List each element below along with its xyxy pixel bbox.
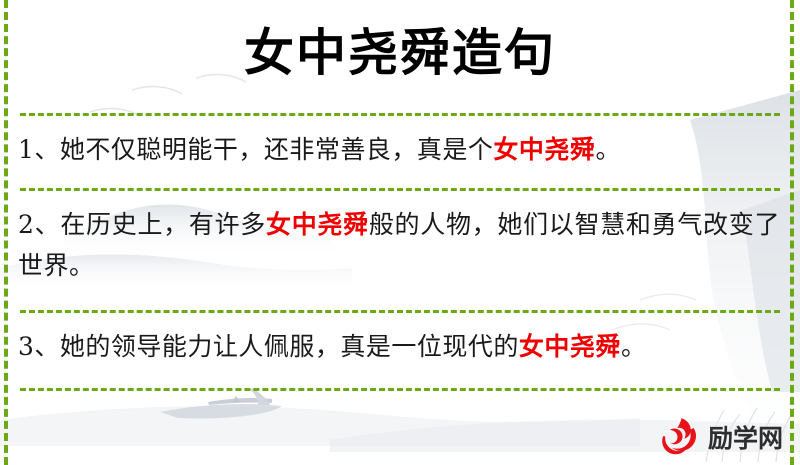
- sentence-worksheet-page: 女中尧舜造句 1、她不仅聪明能干，还非常善良，真是个女中尧舜。 2、在历史上，有…: [0, 0, 800, 465]
- sentence-3-keyword: 女中尧舜: [519, 332, 621, 361]
- separator-line-3: [20, 310, 780, 313]
- separator-line-1: [20, 113, 780, 116]
- separator-line-4: [20, 388, 780, 391]
- sentence-1-text-after: 。: [595, 135, 621, 164]
- sentence-1-index: 1、: [18, 135, 60, 164]
- site-logo-text: 励学网: [708, 419, 783, 455]
- sentence-item-2: 2、在历史上，有许多女中尧舜般的人物，她们以智慧和勇气改变了世界。: [18, 204, 780, 286]
- sentence-2-text-before: 在历史上，有许多: [60, 210, 266, 239]
- site-logo[interactable]: 励学网: [660, 414, 783, 460]
- sentence-item-1: 1、她不仅聪明能干，还非常善良，真是个女中尧舜。: [18, 129, 780, 170]
- flame-swirl-icon: [660, 416, 702, 458]
- sentence-3-text-before: 她的领导能力让人佩服，真是一位现代的: [60, 332, 519, 361]
- page-title: 女中尧舜造句: [0, 18, 800, 88]
- sentence-2-index: 2、: [18, 210, 60, 239]
- sentence-1-keyword: 女中尧舜: [493, 135, 595, 164]
- sentence-item-3: 3、她的领导能力让人佩服，真是一位现代的女中尧舜。: [18, 326, 780, 367]
- sentence-1-text-before: 她不仅聪明能干，还非常善良，真是个: [60, 135, 494, 164]
- sentence-3-text-after: 。: [621, 332, 647, 361]
- sentence-3-index: 3、: [18, 332, 60, 361]
- separator-line-2: [20, 188, 780, 191]
- sentence-2-keyword: 女中尧舜: [266, 210, 369, 239]
